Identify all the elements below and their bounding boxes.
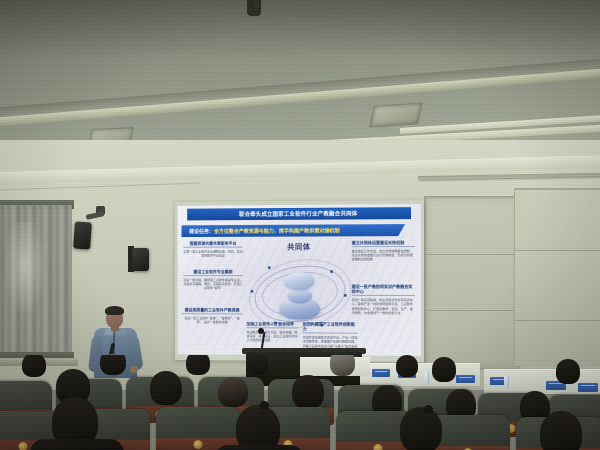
slide-block-body: 整合组织工作专班，建立共同体理事会机制，完善共同体章程与运行管理制度，形成可持续… [352,249,415,262]
sprinkler-icon [254,0,259,12]
ceiling-vent [369,102,423,127]
conference-hall-photo: 联合牵头成立国家工业软件行业产教融合共同体 建设任务： 全方位整合产教资源与能力… [0,0,600,450]
slide-block-heading: 建设一批产教协同实训产教融合实践中心 [352,284,415,296]
name-placard [456,375,475,383]
slide-subtitle-prefix: 建设任务： [189,228,214,235]
slide-subtitle-bar: 建设任务： 全方位整合产教资源与能力，携手构建产教供需对接机制 [181,224,405,237]
slide-block-heading: 协同构建国产工业软件创新能力 [303,322,358,335]
wall-panel-far-right [514,188,600,366]
name-placard [578,383,598,392]
audience-head [22,355,46,377]
hair-bun [424,405,433,414]
wall-speaker-left [73,221,92,249]
slide-block-heading: 加强工业软件人才联合培养 [247,321,299,328]
slide-block-heading: 建设高质量的工业软件产教资源 [181,307,242,314]
audience-head [556,359,580,384]
slide-block: 建设工业软件专业集群 建设一批省级、国家级工业软件相关专业点，共建共享课程、教材… [183,269,242,290]
community-core-label: 共同体 [252,241,345,252]
wall-speaker-right [132,248,149,271]
orbit-node [330,270,333,273]
hair-bun [260,401,269,410]
audience-head [292,375,324,409]
audience-area [0,355,600,450]
audience-head [432,357,456,382]
water-bottle [504,375,509,388]
audience-head [236,405,280,450]
slide-block-body: 共建共性关键技术攻关平台，产业一线技术问题导向，聚焦国产化替代瓶颈问题，开展工业… [303,335,358,348]
orbit-node [250,290,253,293]
core-dome-middle [287,288,312,304]
projected-slide: 联合牵头成立国家工业软件行业产教融合共同体 建设任务： 全方位整合产教资源与能力… [178,204,421,356]
audience-head [150,371,182,405]
audience-shoulders [30,439,124,450]
slide-block-heading: 建立共同体运营建设长效机制 [352,240,415,247]
audience-head [246,355,268,375]
presenter-hair [105,306,124,315]
ceiling-shadow [0,0,600,60]
audience-head [400,407,442,450]
name-placard [372,369,390,377]
slide-block: 建设高质量的工业软件产教资源 建设一批工业软件“金课”、“金教材”、“金师”，提… [181,307,242,324]
slide-block-body: 汇聚一批工业软件企业课程资源、师资、实训项目数字平台建设 [183,249,242,258]
core-dome-top [284,272,314,290]
slide-block-body: 建设一批实训基地、校企共建共管共享实训中心、面向产业一线的协同创新平台、工业软件… [352,298,415,316]
audience-head [396,355,418,377]
audience-head [186,355,210,375]
slide-block-heading: 建设工业软件专业集群 [183,269,242,276]
water-bottle [424,371,429,384]
orbit-node [268,266,271,269]
slide-block: 搭建资源共建共享服务平台 汇聚一批工业软件企业课程资源、师资、实训项目数字平台建… [183,241,242,258]
audience-head [218,377,248,407]
slide-title: 联合牵头成立国家工业软件行业产教融合共同体 [187,207,411,220]
slide-block: 建设一批产教协同实训产教融合实践中心 建设一批实训基地、校企共建共管共享实训中心… [352,284,415,315]
slide-block: 协同构建国产工业软件创新能力 共建共性关键技术攻关平台，产业一线技术问题导向，聚… [303,322,358,349]
community-core-graphic: 共同体 [252,242,345,327]
audience-head [100,355,126,375]
slide-subtitle-text: 全方位整合产教资源与能力，携手构建产教供需对接机制 [214,227,340,235]
audience-head [540,411,582,450]
slide-block: 建立共同体运营建设长效机制 整合组织工作专班，建立共同体理事会机制，完善共同体章… [352,240,415,262]
slide-block-body: 建设一批省级、国家级工业软件相关专业点，共建共享课程、教材、实验实训条件，打造工… [183,278,242,291]
whiteboard-panel [424,196,520,370]
slide-block-body: 建设一批工业软件“金课”、“金教材”、“金师”，提升一批教学成果 [181,316,242,325]
audience-shoulders [214,445,304,450]
slide-block: 加强工业软件人才联合培养 校企联合制定培养方案、联合授课、联合实训、联合就业，建… [247,321,299,343]
orbit-node [344,294,347,297]
audience-head [330,355,355,376]
slide-block-heading: 搭建资源共建共享服务平台 [183,241,242,248]
slide-block-body: 校企联合制定培养方案、联合授课、联合实训、联合就业，建立工业软件紧缺人才培养供给… [247,330,299,343]
curtain-light-glow [4,222,46,318]
projection-screen-frame: 联合牵头成立国家工业软件行业产教融合共同体 建设任务： 全方位整合产教资源与能力… [175,200,424,362]
ceiling [0,0,600,150]
auditorium-seat [156,407,240,450]
